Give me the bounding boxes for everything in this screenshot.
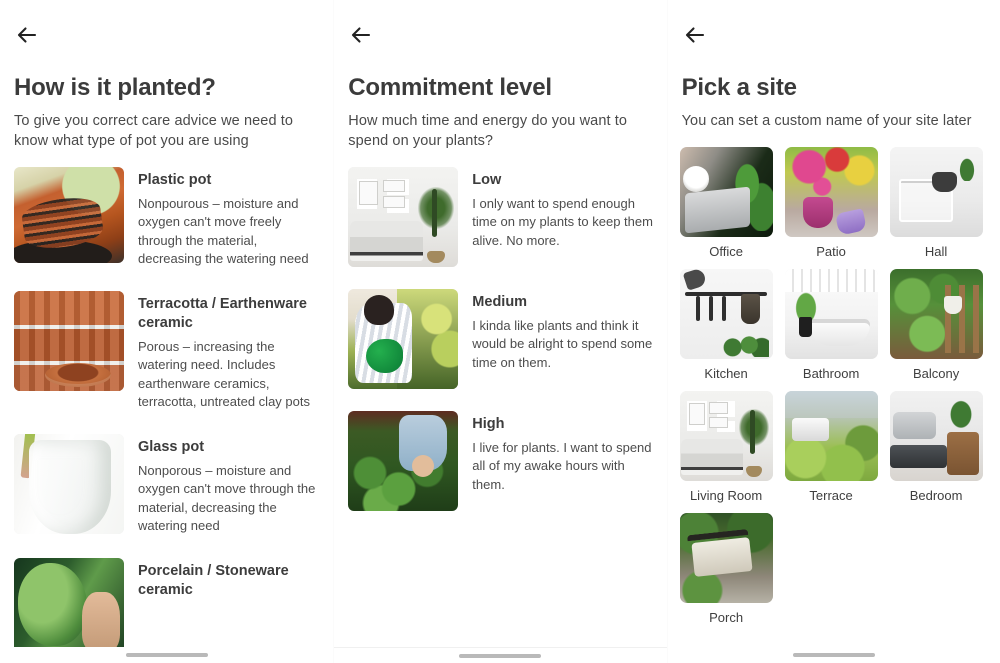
list-item[interactable]: Medium I kinda like plants and think it … (348, 289, 656, 389)
site-card-office[interactable]: Office (680, 147, 773, 259)
pot-type-option-list: Plastic pot Nonpourous – moisture and ox… (0, 167, 333, 654)
site-card-bedroom[interactable]: Bedroom (890, 391, 983, 503)
status-bar (334, 0, 666, 10)
commitment-option-list: Low I only want to spend enough time on … (334, 167, 666, 511)
option-text: Porcelain / Stoneware ceramic (124, 558, 323, 600)
list-item[interactable]: Porcelain / Stoneware ceramic (14, 558, 323, 654)
home-indicator-bar[interactable] (668, 647, 1000, 663)
garden-tending-photo (348, 411, 458, 511)
living-room-photo (348, 167, 458, 267)
page-heading: Pick a site You can set a custom name of… (668, 54, 1000, 131)
list-item[interactable]: Terracotta / Earthenware ceramic Porous … (14, 291, 323, 412)
page-subtitle: To give you correct care advice we need … (14, 111, 319, 151)
option-title: Terracotta / Earthenware ceramic (138, 295, 323, 333)
option-title: Medium (472, 293, 656, 312)
porcelain-plant-photo (14, 558, 124, 654)
option-text: Terracotta / Earthenware ceramic Porous … (124, 291, 323, 412)
option-title: Plastic pot (138, 171, 323, 190)
option-title: Porcelain / Stoneware ceramic (138, 562, 323, 600)
site-card-balcony[interactable]: Balcony (890, 269, 983, 381)
back-bar (334, 10, 666, 54)
porch-chairs-photo (680, 513, 773, 603)
home-indicator-bar[interactable] (334, 647, 666, 663)
site-grid: Office Patio Hall (668, 147, 1000, 625)
back-bar (668, 10, 1000, 54)
site-label: Balcony (913, 366, 959, 381)
site-card-terrace[interactable]: Terrace (785, 391, 878, 503)
screen-pick-a-site: Pick a site You can set a custom name of… (667, 0, 1000, 663)
arrow-left-icon[interactable] (348, 22, 374, 48)
screenshot-root: How is it planted? To give you correct c… (0, 0, 1000, 663)
site-label: Bedroom (910, 488, 963, 503)
arrow-left-icon[interactable] (14, 22, 40, 48)
page-subtitle: You can set a custom name of your site l… (682, 111, 986, 131)
page-title: Commitment level (348, 74, 652, 102)
glass-pot-photo (14, 434, 124, 534)
kitchen-utensils-photo (680, 269, 773, 359)
back-bar (0, 10, 333, 54)
status-bar (0, 0, 333, 10)
site-card-living-room[interactable]: Living Room (680, 391, 773, 503)
site-label: Hall (925, 244, 947, 259)
list-item[interactable]: Plastic pot Nonpourous – moisture and ox… (14, 167, 323, 269)
bathroom-tub-photo (785, 269, 878, 359)
option-title: Low (472, 171, 656, 190)
hall-shelf-photo (890, 147, 983, 237)
home-indicator-bar[interactable] (0, 647, 333, 663)
page-subtitle: How much time and energy do you want to … (348, 111, 652, 151)
site-card-porch[interactable]: Porch (680, 513, 773, 625)
option-title: Glass pot (138, 438, 323, 457)
bedroom-plant-photo (890, 391, 983, 481)
site-label: Kitchen (704, 366, 747, 381)
page-heading: How is it planted? To give you correct c… (0, 54, 333, 151)
balcony-plants-photo (890, 269, 983, 359)
option-text: Glass pot Nonporous – moisture and oxyge… (124, 434, 323, 536)
site-label: Living Room (690, 488, 762, 503)
arrow-left-icon[interactable] (682, 22, 708, 48)
option-text: High I live for plants. I want to spend … (458, 411, 656, 494)
list-item[interactable]: Low I only want to spend enough time on … (348, 167, 656, 267)
option-description: Porous – increasing the watering need. I… (138, 338, 323, 412)
terrace-garden-photo (785, 391, 878, 481)
site-label: Office (709, 244, 743, 259)
site-card-bathroom[interactable]: Bathroom (785, 269, 878, 381)
option-description: Nonpourous – moisture and oxygen can't m… (138, 195, 323, 269)
site-card-kitchen[interactable]: Kitchen (680, 269, 773, 381)
site-label: Terrace (809, 488, 852, 503)
office-desk-photo (680, 147, 773, 237)
site-card-patio[interactable]: Patio (785, 147, 878, 259)
watering-plants-photo (348, 289, 458, 389)
patio-flowers-photo (785, 147, 878, 237)
site-label: Bathroom (803, 366, 859, 381)
list-item[interactable]: High I live for plants. I want to spend … (348, 411, 656, 511)
option-description: Nonporous – moisture and oxygen can't mo… (138, 462, 323, 536)
option-title: High (472, 415, 656, 434)
option-description: I kinda like plants and think it would b… (472, 317, 656, 372)
option-text: Low I only want to spend enough time on … (458, 167, 656, 250)
page-title: Pick a site (682, 74, 986, 102)
screen-commitment-level: Commitment level How much time and energ… (333, 0, 666, 663)
page-title: How is it planted? (14, 74, 319, 102)
option-description: I only want to spend enough time on my p… (472, 195, 656, 250)
site-label: Patio (816, 244, 846, 259)
option-description: I live for plants. I want to spend all o… (472, 439, 656, 494)
list-item[interactable]: Glass pot Nonporous – moisture and oxyge… (14, 434, 323, 536)
page-heading: Commitment level How much time and energ… (334, 54, 666, 151)
site-label: Porch (709, 610, 743, 625)
option-text: Plastic pot Nonpourous – moisture and ox… (124, 167, 323, 269)
plastic-pots-photo (14, 167, 124, 263)
terracotta-pots-photo (14, 291, 124, 391)
screen-how-is-it-planted: How is it planted? To give you correct c… (0, 0, 333, 663)
status-bar (668, 0, 1000, 10)
living-room-sofa-photo (680, 391, 773, 481)
option-text: Medium I kinda like plants and think it … (458, 289, 656, 372)
site-card-hall[interactable]: Hall (890, 147, 983, 259)
